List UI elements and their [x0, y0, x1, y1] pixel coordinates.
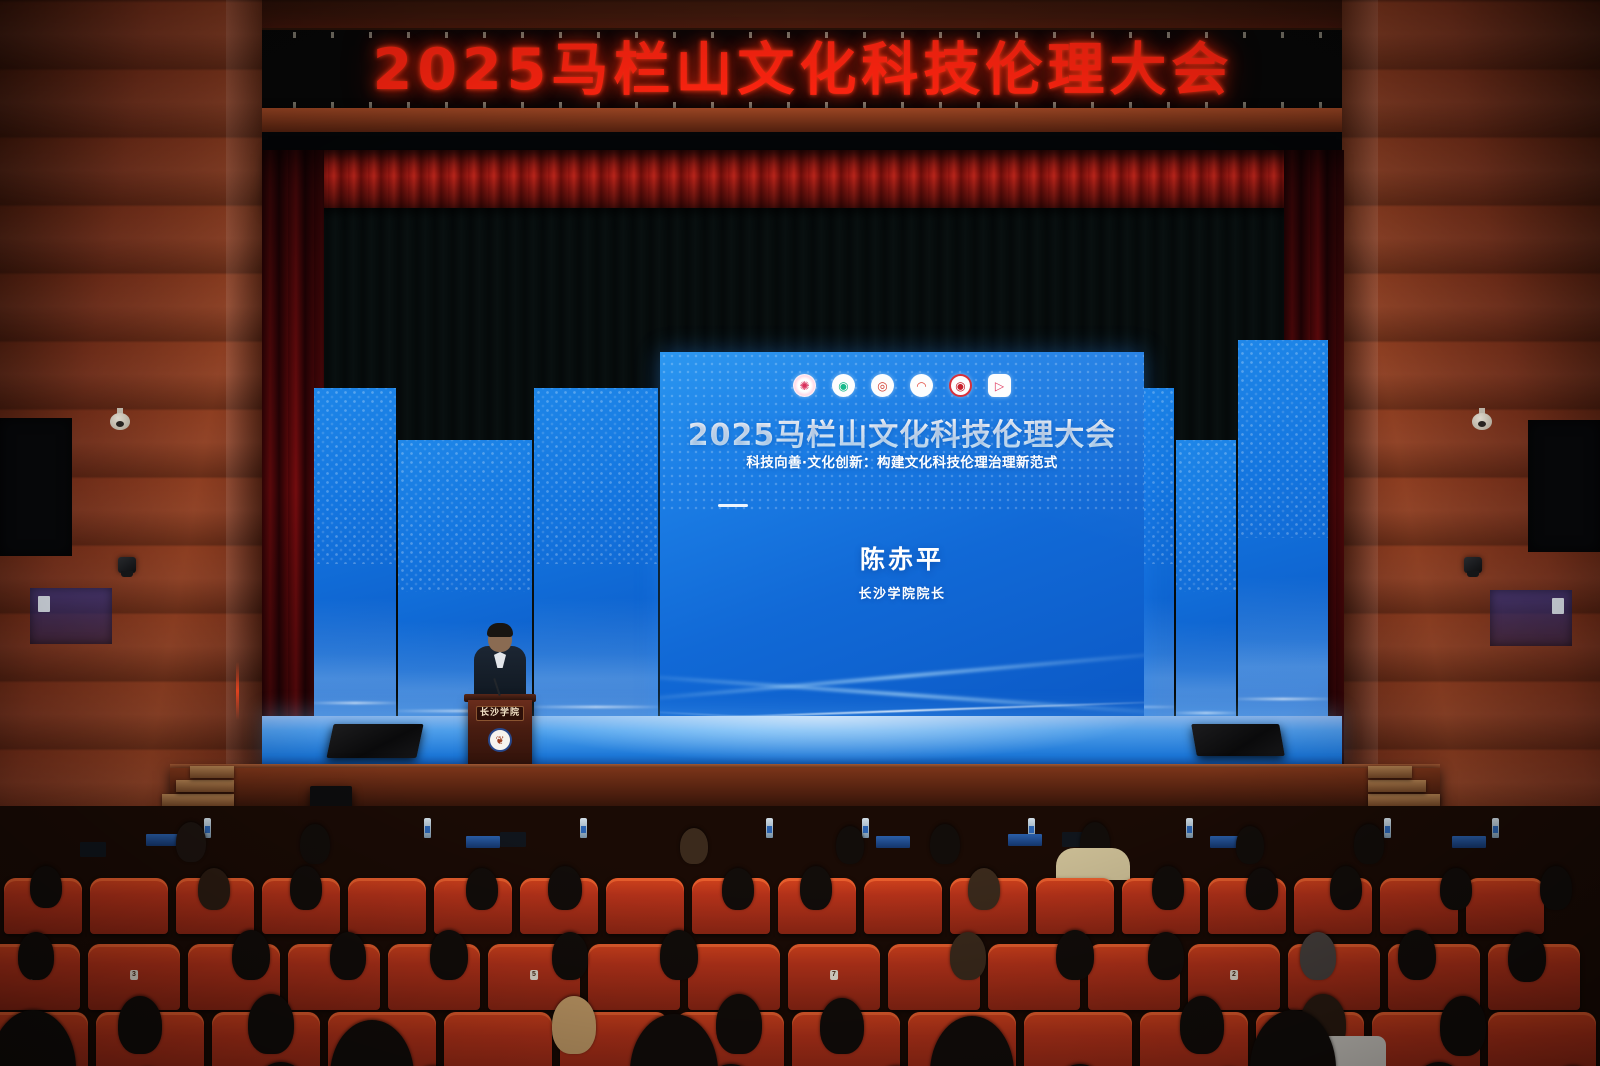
alcove-sign-left [38, 596, 50, 612]
slide-title: 2025马栏山文化科技伦理大会 [660, 410, 1144, 454]
lit-alcove-right [1490, 590, 1572, 646]
audience-head [18, 932, 54, 980]
led-banner-text: 2025马栏山文化科技伦理大会 [373, 42, 1234, 99]
led-marquee-banner: 2025马栏山文化科技伦理大会 [255, 28, 1351, 112]
audience-head [548, 866, 582, 910]
main-presentation-screen: ✺ ◉ ◎ ◠ ◉ ▷ 2025马栏山文化科技伦理大会 科技向善·文化创新：构建… [660, 352, 1144, 770]
slide-accent-dash [718, 504, 748, 507]
audience-head [1148, 932, 1184, 980]
audience-head [716, 994, 762, 1054]
audience-head [330, 932, 366, 980]
audience-head [198, 868, 230, 910]
audience-head [232, 930, 270, 980]
led-panel-3 [534, 388, 658, 770]
alcove-sign-right [1552, 598, 1564, 614]
led-panel-wall: ✺ ◉ ◎ ◠ ◉ ▷ 2025马栏山文化科技伦理大会 科技向善·文化创新：构建… [262, 300, 1342, 770]
speaker-title: 长沙学院院长 [660, 583, 1144, 602]
audience-head [800, 866, 832, 910]
audience-row: 4 6 [0, 978, 1600, 1066]
podium-plate-text: 长沙学院 [480, 709, 520, 718]
audience-head [820, 998, 864, 1054]
square-media-logo-icon: ▷ [988, 374, 1011, 397]
proscenium-cornice [190, 108, 1420, 134]
audience-seating: 1 3 5 7 2 [0, 806, 1600, 1066]
audience-head [250, 1062, 312, 1066]
stage-monitor-right [1191, 724, 1285, 756]
green-swirl-logo-icon: ◉ [832, 374, 855, 397]
audience-head [1398, 930, 1436, 980]
audience-head [248, 994, 294, 1054]
audience-head [950, 932, 986, 980]
audience-head [1152, 866, 1184, 910]
dome-camera-right [1472, 408, 1492, 430]
audience-head [1180, 996, 1224, 1054]
audience-head [660, 930, 698, 980]
left-pillar [226, 0, 262, 812]
pink-smile-logo-icon: ◠ [910, 374, 933, 397]
audience-row [0, 852, 1600, 920]
audience-head [552, 996, 596, 1054]
lit-alcove-left [30, 588, 112, 644]
changsha-university-emblem-icon: ❦ [488, 728, 512, 752]
slide-subtitle: 科技向善·文化创新：构建文化科技伦理治理新范式 [660, 451, 1144, 471]
audience-head [1540, 866, 1572, 910]
podium-body: 长沙学院 ❦ [468, 700, 532, 766]
led-panel-1 [314, 388, 396, 770]
led-panel-9 [1238, 340, 1328, 770]
audience-head [1300, 932, 1336, 980]
audience-head [1246, 868, 1278, 910]
stage-spotlight-right [1464, 557, 1482, 573]
left-wall [0, 0, 262, 812]
black-wall-panel-right [1528, 420, 1600, 552]
audience-row: 9 11 [0, 1058, 1600, 1066]
auditorium-photo: 2025马栏山文化科技伦理大会 [0, 0, 1600, 1066]
audience-head [1056, 930, 1094, 980]
audience-head [118, 996, 162, 1054]
audience-head [1408, 1062, 1470, 1066]
right-pillar [1342, 0, 1378, 812]
audience-head [1440, 868, 1472, 910]
stage-spotlight-left [118, 557, 136, 573]
audience-head [466, 868, 498, 910]
mangguo-logo-icon: ✺ [793, 374, 816, 397]
dome-camera-left [110, 408, 130, 430]
red-seal-logo-icon: ◉ [949, 374, 972, 397]
audience-head [1330, 866, 1362, 910]
black-wall-panel-left [0, 418, 72, 556]
audience-head [722, 868, 754, 910]
audience-head [30, 866, 62, 908]
speaker-hair [487, 623, 513, 637]
red-bell-logo-icon: ◎ [871, 374, 894, 397]
podium-and-speaker: 长沙学院 ❦ [452, 620, 548, 775]
stage-monitor-left [326, 724, 423, 758]
right-wall [1342, 0, 1600, 812]
audience-head [290, 866, 322, 910]
audience-head [430, 930, 468, 980]
speaker-name: 陈赤平 [660, 540, 1144, 576]
slide-content: ✺ ◉ ◎ ◠ ◉ ▷ 2025马栏山文化科技伦理大会 科技向善·文化创新：构建… [660, 352, 1144, 770]
podium-name-plate: 长沙学院 [476, 706, 524, 721]
exit-light-strip-left [236, 662, 239, 720]
valance-curtain [268, 150, 1336, 208]
audience-head [968, 868, 1000, 910]
audience-head [552, 932, 588, 980]
audience-head [1440, 996, 1486, 1056]
sponsor-logo-row: ✺ ◉ ◎ ◠ ◉ ▷ [660, 374, 1144, 397]
audience-head [1508, 932, 1546, 982]
